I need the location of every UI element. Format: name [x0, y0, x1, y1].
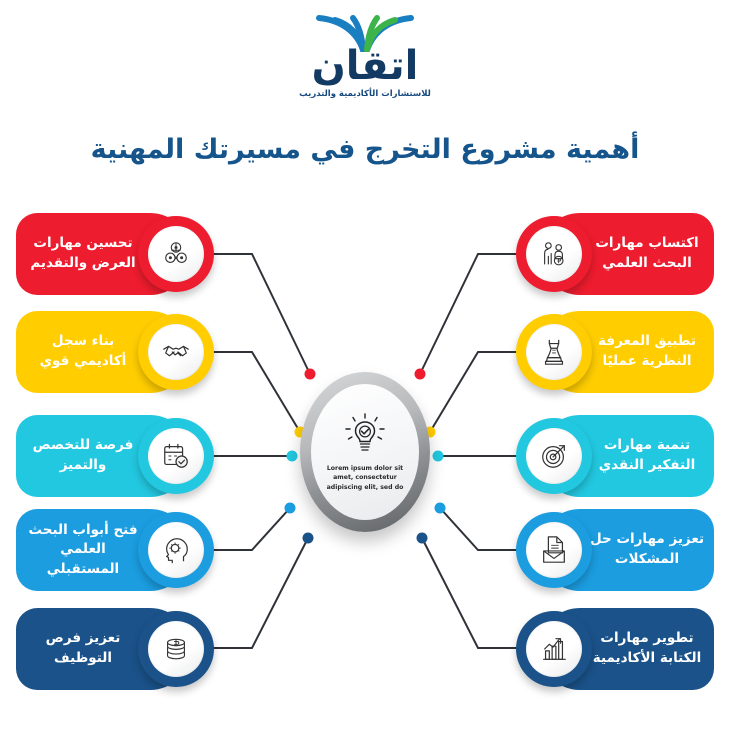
benefit-icon-knob: [516, 216, 592, 292]
benefit-label: اكتساب مهارات البحث العلمي: [588, 213, 706, 295]
handshake-icon: [161, 337, 191, 367]
connector-dot-inner: [287, 451, 298, 462]
benefit-item-right-4[interactable]: تعزيز مهارات حل المشكلات: [524, 509, 714, 591]
target-arrow-icon: [539, 441, 569, 471]
document-envelope-icon: [539, 535, 569, 565]
page-title: أهمية مشروع التخرج في مسيرتك المهنية: [0, 133, 730, 167]
brand-tagline: للاستشارات الأكاديمية والتدريب: [0, 89, 730, 99]
benefit-icon-knob: [516, 512, 592, 588]
benefit-item-right-1[interactable]: اكتساب مهارات البحث العلمي: [524, 213, 714, 295]
connector-dot-inner: [433, 451, 444, 462]
brand-wordmark: اتقان: [0, 46, 730, 86]
center-face: Lorem ipsum dolor sit amet, consectetur …: [311, 384, 419, 520]
benefit-label: فرصة للتخصص والتميز: [24, 415, 142, 497]
lightbulb-check-icon: [343, 412, 387, 460]
benefit-label: تطوير مهارات الكتابة الأكاديمية: [588, 608, 706, 690]
benefit-icon-knob: [516, 418, 592, 494]
infographic-canvas: اتقان للاستشارات الأكاديمية والتدريب أهم…: [0, 0, 730, 730]
benefit-icon-knob: [138, 611, 214, 687]
benefit-item-right-3[interactable]: تنمية مهارات التفكير النقدي: [524, 415, 714, 497]
bar-chart-growth-icon: [539, 634, 569, 664]
calendar-check-icon: [161, 441, 191, 471]
benefit-item-right-5[interactable]: تطوير مهارات الكتابة الأكاديمية: [524, 608, 714, 690]
benefit-label: تطبيق المعرفة النظرية عمليًا: [588, 311, 706, 393]
benefit-label: بناء سجل أكاديمي قوي: [24, 311, 142, 393]
benefit-item-left-2[interactable]: بناء سجل أكاديمي قوي: [16, 311, 206, 393]
benefit-item-left-3[interactable]: فرصة للتخصص والتميز: [16, 415, 206, 497]
coins-stack-icon: [161, 634, 191, 664]
connector-dot-inner: [417, 533, 428, 544]
molecule-icon: [161, 239, 191, 269]
benefit-icon-knob: [138, 512, 214, 588]
people-money-icon: [539, 239, 569, 269]
benefit-item-left-5[interactable]: تعزيز فرص التوظيف: [16, 608, 206, 690]
benefit-icon-knob: [516, 611, 592, 687]
center-description: Lorem ipsum dolor sit amet, consectetur …: [322, 464, 408, 493]
benefit-item-right-2[interactable]: تطبيق المعرفة النظرية عمليًا: [524, 311, 714, 393]
benefit-label: تنمية مهارات التفكير النقدي: [588, 415, 706, 497]
benefit-label: تحسين مهارات العرض والتقديم: [24, 213, 142, 295]
connector-dot-inner: [285, 503, 296, 514]
benefit-icon-knob: [138, 216, 214, 292]
benefit-icon-knob: [138, 314, 214, 390]
center-hub[interactable]: Lorem ipsum dolor sit amet, consectetur …: [300, 372, 430, 532]
connector-dot-inner: [303, 533, 314, 544]
head-gear-icon: [161, 535, 191, 565]
benefit-item-left-4[interactable]: فتح أبواب البحث العلمي المستقبلي: [16, 509, 206, 591]
benefit-label: فتح أبواب البحث العلمي المستقبلي: [24, 509, 142, 591]
chess-rook-icon: [539, 337, 569, 367]
brand-logo: اتقان للاستشارات الأكاديمية والتدريب: [0, 6, 730, 99]
benefit-label: تعزيز مهارات حل المشكلات: [588, 509, 706, 591]
benefit-icon-knob: [516, 314, 592, 390]
benefit-label: تعزيز فرص التوظيف: [24, 608, 142, 690]
connector-dot-inner: [435, 503, 446, 514]
benefit-icon-knob: [138, 418, 214, 494]
benefit-item-left-1[interactable]: تحسين مهارات العرض والتقديم: [16, 213, 206, 295]
